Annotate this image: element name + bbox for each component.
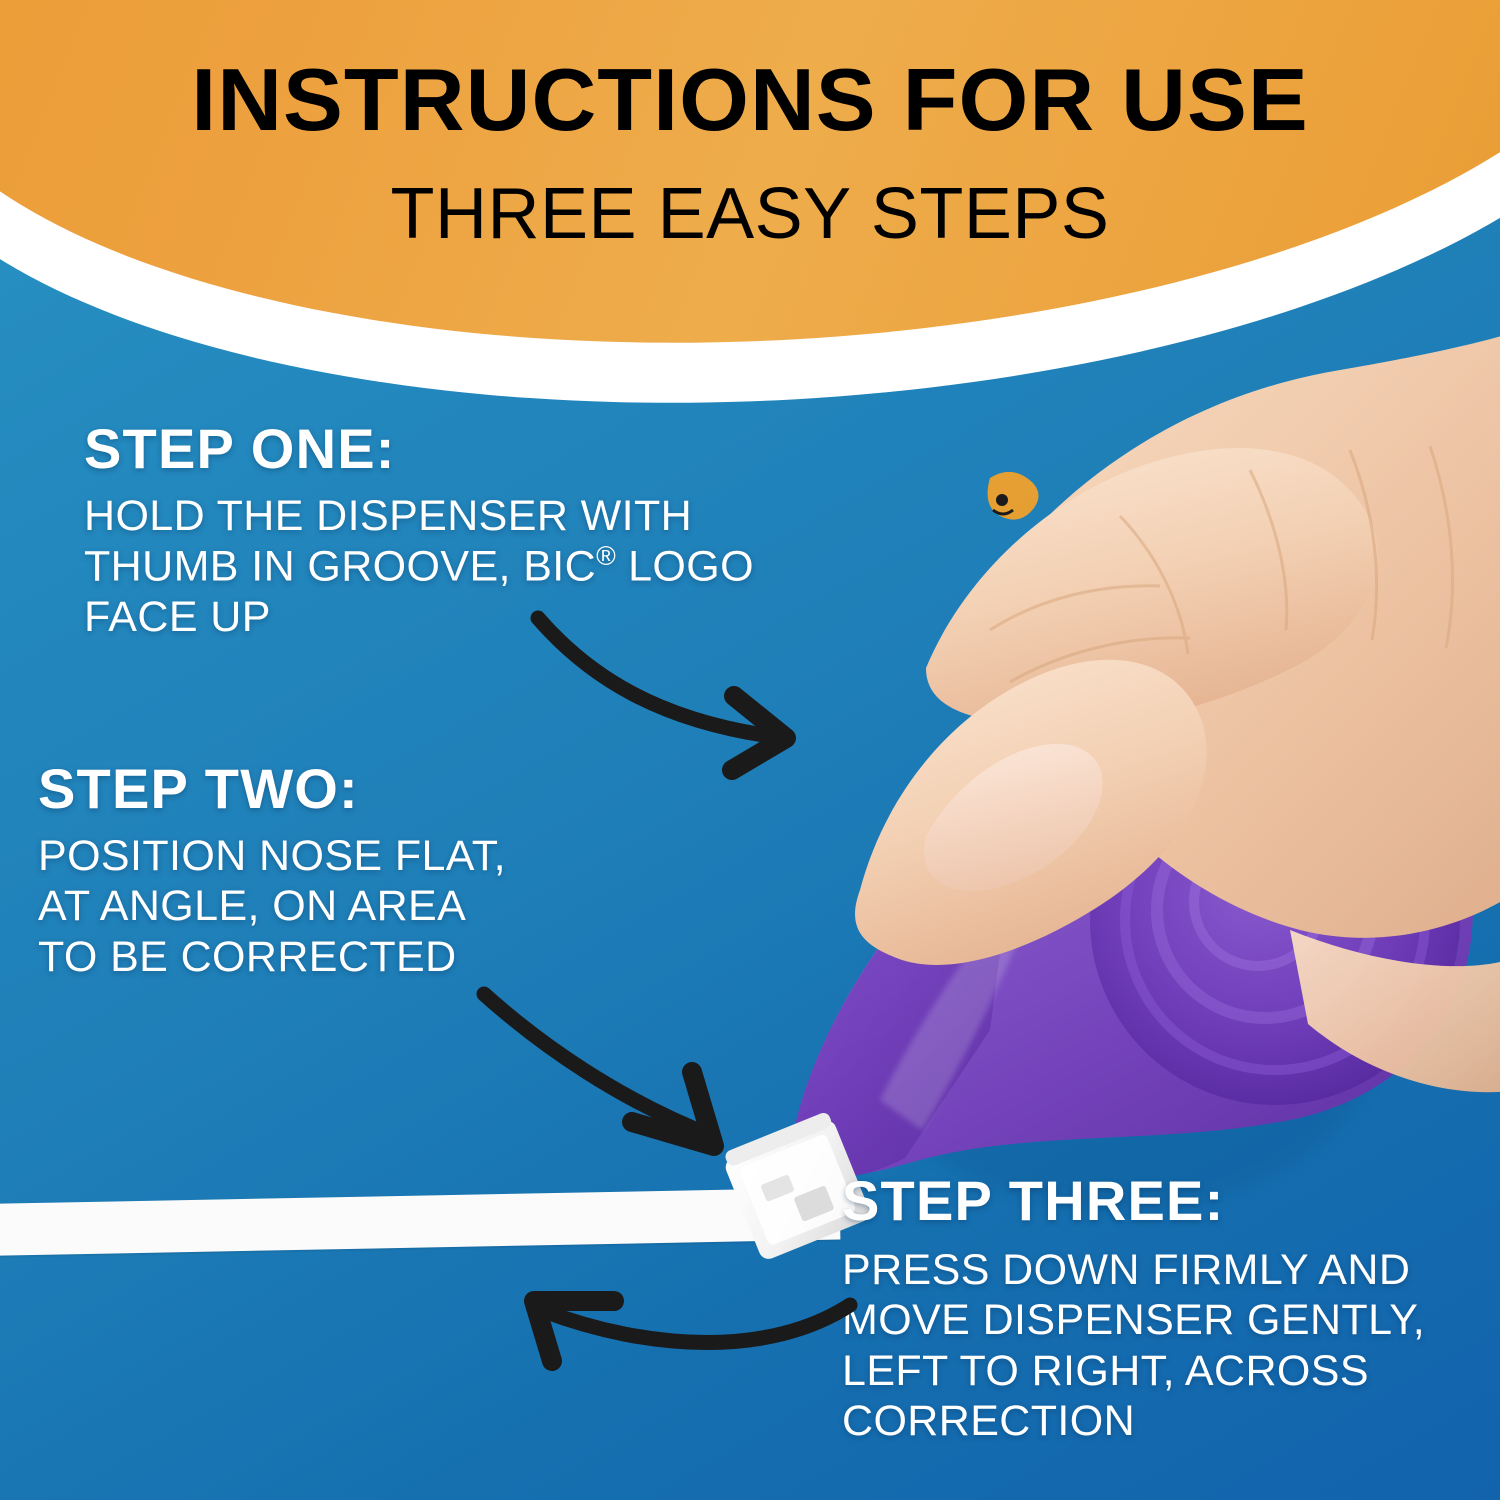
step-three-block: STEP THREE: PRESS DOWN FIRMLY AND MOVE D… — [842, 1168, 1425, 1446]
step-one-heading: STEP ONE: — [84, 416, 754, 481]
arrow-step-three-icon — [490, 1245, 870, 1385]
step-three-body: PRESS DOWN FIRMLY AND MOVE DISPENSER GEN… — [842, 1245, 1425, 1446]
step-three-line-4: CORRECTION — [842, 1396, 1425, 1446]
bic-logo-sticker — [988, 472, 1039, 520]
poster-canvas: INSTRUCTIONS FOR USE THREE EASY STEPS — [0, 0, 1500, 1500]
step-three-line-3: LEFT TO RIGHT, ACROSS — [842, 1346, 1425, 1396]
page-subtitle: THREE EASY STEPS — [0, 178, 1500, 250]
step-three-line-2: MOVE DISPENSER GENTLY, — [842, 1295, 1425, 1345]
arrow-step-two-icon — [470, 980, 800, 1180]
page-title: INSTRUCTIONS FOR USE — [0, 56, 1500, 144]
registered-mark: ® — [596, 541, 616, 571]
step-one-line-1: HOLD THE DISPENSER WITH — [84, 491, 754, 541]
step-two-block: STEP TWO: POSITION NOSE FLAT, AT ANGLE, … — [38, 756, 506, 982]
step-two-heading: STEP TWO: — [38, 756, 506, 821]
header-text-block: INSTRUCTIONS FOR USE THREE EASY STEPS — [0, 0, 1500, 250]
step-two-line-2: AT ANGLE, ON AREA — [38, 881, 506, 931]
hand-holding-dispenser-photo — [690, 330, 1500, 1290]
step-three-line-1: PRESS DOWN FIRMLY AND — [842, 1245, 1425, 1295]
step-three-heading: STEP THREE: — [842, 1168, 1425, 1233]
step-two-body: POSITION NOSE FLAT, AT ANGLE, ON AREA TO… — [38, 831, 506, 982]
step-one-line-2: THUMB IN GROOVE, BIC® LOGO — [84, 541, 754, 592]
arrow-step-one-icon — [520, 600, 850, 780]
step-two-line-3: TO BE CORRECTED — [38, 932, 506, 982]
step-two-line-1: POSITION NOSE FLAT, — [38, 831, 506, 881]
